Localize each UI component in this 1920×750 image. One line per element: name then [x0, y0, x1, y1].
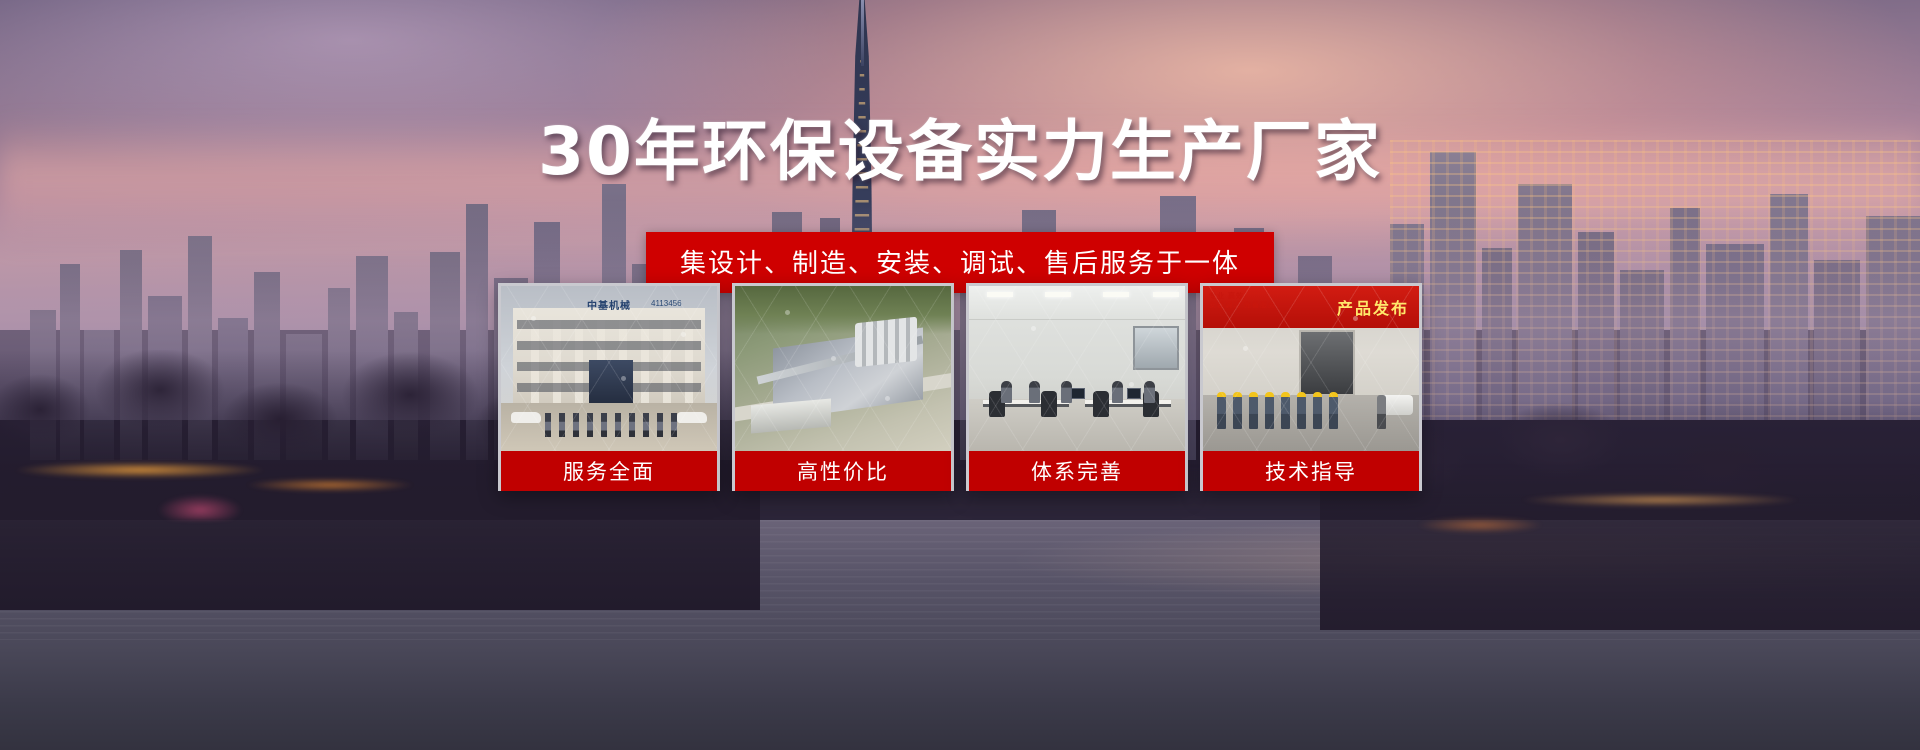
page-title: 30年环保设备实力生产厂家 — [0, 98, 1920, 194]
building-sign-number: 4113456 — [651, 299, 682, 308]
feature-card-service[interactable]: 中基机械 4113456 服务全面 — [498, 283, 720, 491]
feature-card-value[interactable]: 高性价比 — [732, 283, 954, 491]
card-label-system: 体系完善 — [969, 451, 1185, 491]
workshop-side-text-3: 安装调试 — [1209, 302, 1241, 309]
card-label-value: 高性价比 — [735, 451, 951, 491]
city-lights-right — [1360, 470, 1880, 560]
card-photo-office-building: 中基机械 4113456 — [501, 286, 717, 451]
workshop-side-text-1: 专业 — [1209, 293, 1225, 300]
feature-card-list: 中基机械 4113456 服务全面 — [498, 283, 1422, 491]
workshop-side-text-4: 完善服务 — [1244, 302, 1276, 309]
workshop-side-text-2: 高效 — [1228, 293, 1244, 300]
card-photo-workshop-workers: 产品发布 专业 高效 安装调试 完善服务 — [1203, 286, 1419, 451]
tower-spire — [861, 0, 864, 66]
building-sign-text: 中基机械 — [563, 298, 655, 311]
feature-card-guidance[interactable]: 产品发布 专业 高效 安装调试 完善服务 — [1200, 283, 1422, 491]
card-label-service: 服务全面 — [501, 451, 717, 491]
hero-banner: 30年环保设备实力生产厂家 集设计、制造、安装、调试、售后服务于一体 中基机械 … — [0, 0, 1920, 750]
workshop-side-text: 专业 高效 安装调试 完善服务 — [1209, 292, 1299, 324]
feature-card-system[interactable]: 体系完善 — [966, 283, 1188, 491]
card-label-guidance: 技术指导 — [1203, 451, 1419, 491]
card-photo-aerial-plant — [735, 286, 951, 451]
city-lights-left — [0, 430, 520, 520]
card-photo-office-meeting — [969, 286, 1185, 451]
